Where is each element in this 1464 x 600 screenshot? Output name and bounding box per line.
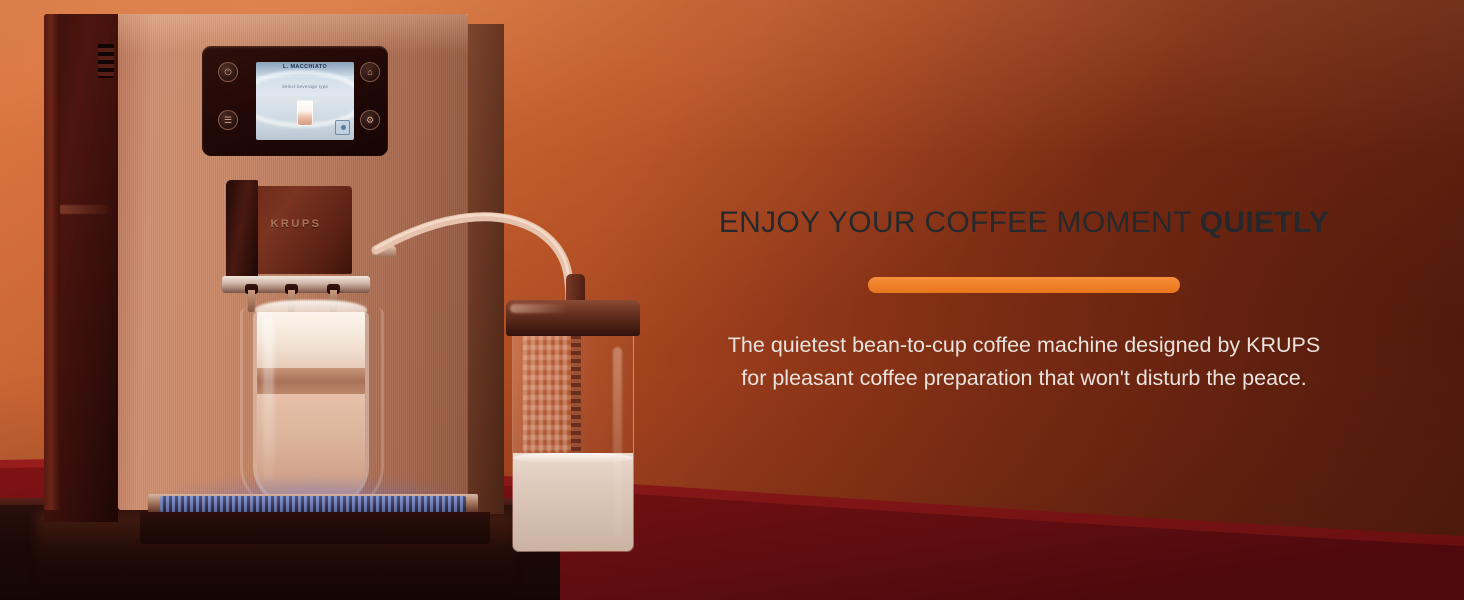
machine-vents xyxy=(98,44,114,78)
coffee-machine-photo: ⏻ ☰ ⌂ ⚙ L. MACCHIATO Select beverage typ… xyxy=(0,0,700,600)
dispenser-arm[interactable] xyxy=(226,180,258,284)
screen-subtitle: Select beverage type xyxy=(256,84,354,89)
cup-warmer-button[interactable]: ☰ xyxy=(218,110,238,130)
milk-container xyxy=(512,300,634,552)
page-title: ENJOY YOUR COFFEE MOMENT QUIETLY xyxy=(719,206,1329,239)
home-button[interactable]: ⌂ xyxy=(360,62,380,82)
person-preset-icon[interactable] xyxy=(335,120,350,135)
glass-highlight xyxy=(263,316,274,482)
machine-side-lip xyxy=(44,14,60,510)
milk-jar-lid-highlight xyxy=(510,304,568,313)
settings-button[interactable]: ⚙ xyxy=(360,110,380,130)
banner-description: The quietest bean-to-cup coffee machine … xyxy=(724,329,1324,394)
milk-tube-connector xyxy=(372,246,396,257)
banner-copy: ENJOY YOUR COFFEE MOMENT QUIETLY The qui… xyxy=(700,0,1348,600)
headline-lead: ENJOY YOUR COFFEE MOMENT xyxy=(719,206,1200,239)
milk-jar-lid[interactable] xyxy=(506,300,640,336)
headline-emphasis: QUIETLY xyxy=(1200,206,1329,239)
screen-title: L. MACCHIATO xyxy=(256,64,354,70)
latte-glass-icon xyxy=(297,100,313,126)
drip-tray-grid xyxy=(160,496,466,512)
milk-jar-texture xyxy=(523,335,571,453)
drip-tray-body xyxy=(140,512,490,544)
power-button[interactable]: ⏻ xyxy=(218,62,238,82)
milk-jar-highlight xyxy=(613,347,622,537)
milk-jar-body xyxy=(512,320,634,552)
accent-divider xyxy=(868,277,1180,293)
machine-touchscreen[interactable]: L. MACCHIATO Select beverage type xyxy=(256,62,354,140)
foam-crown xyxy=(255,300,367,320)
milk-jar-straw xyxy=(571,327,581,457)
product-hero-banner: ⏻ ☰ ⌂ ⚙ L. MACCHIATO Select beverage typ… xyxy=(0,0,1464,600)
machine-side-label xyxy=(60,205,108,214)
